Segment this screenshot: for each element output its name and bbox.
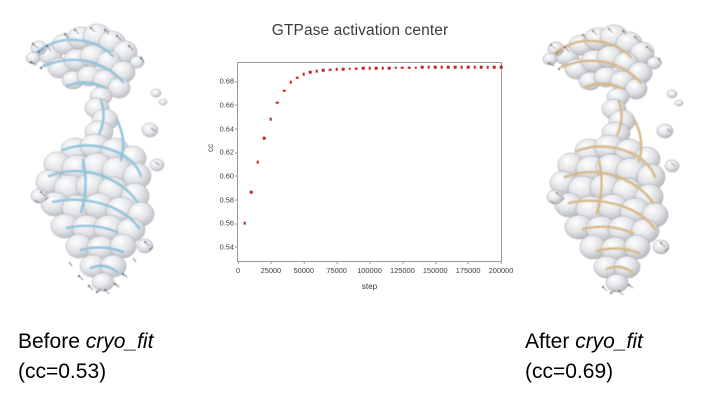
caption-after: After cryo_fit (cc=0.69): [525, 327, 643, 387]
data-point: [243, 222, 246, 225]
data-point: [276, 102, 279, 105]
y-axis-tick: 0.56: [220, 219, 238, 228]
caption-before-cc: (cc=0.53): [18, 357, 153, 387]
data-point: [460, 66, 463, 69]
figure-panel-before: [5, 0, 205, 320]
caption-before-italic: cryo_fit: [86, 330, 154, 353]
data-point: [362, 67, 365, 70]
data-point: [434, 66, 437, 69]
caption-before-prefix: Before: [18, 330, 86, 353]
data-point: [342, 68, 345, 71]
data-point: [493, 66, 496, 69]
x-axis-tick: 100000: [357, 261, 382, 275]
data-point: [302, 73, 305, 76]
y-axis-tick: 0.66: [220, 100, 238, 109]
y-axis-tick: 0.58: [220, 195, 238, 204]
data-point: [388, 67, 391, 70]
data-point: [283, 89, 286, 92]
x-axis-tick: 200000: [489, 261, 514, 275]
data-point: [500, 66, 503, 69]
ribosome-density-map-before: [5, 0, 205, 320]
data-point: [368, 67, 371, 70]
y-axis-tick: 0.62: [220, 148, 238, 157]
data-point: [441, 66, 444, 69]
data-point: [348, 67, 351, 70]
x-axis-label: step: [237, 282, 502, 291]
x-axis-tick: 25000: [261, 261, 282, 275]
data-point: [263, 137, 266, 140]
data-point: [316, 70, 319, 73]
data-point: [454, 66, 457, 69]
data-point: [329, 68, 332, 71]
x-axis-tick: 50000: [293, 261, 314, 275]
molecule-render-after: [515, 0, 715, 320]
data-point: [289, 81, 292, 84]
x-axis-tick: 150000: [423, 261, 448, 275]
scatter-series: [238, 63, 501, 261]
plot-area: 0.540.560.580.600.620.640.660.6802500050…: [237, 62, 502, 262]
x-axis-tick: 125000: [390, 261, 415, 275]
data-point: [473, 66, 476, 69]
data-point: [487, 66, 490, 69]
data-point: [467, 66, 470, 69]
data-point: [381, 67, 384, 70]
data-point: [270, 118, 273, 121]
y-axis-tick: 0.60: [220, 171, 238, 180]
data-point: [256, 161, 259, 164]
data-point: [375, 67, 378, 70]
data-point: [414, 66, 417, 69]
cc-vs-step-chart: GTPase activation center cc 0.540.560.58…: [200, 4, 520, 304]
x-axis-tick: 0: [236, 261, 240, 275]
caption-before: Before cryo_fit (cc=0.53): [18, 327, 153, 387]
data-point: [322, 69, 325, 72]
molecule-render-before: [5, 0, 205, 320]
y-axis-label: cc: [206, 144, 215, 152]
data-point: [335, 68, 338, 71]
data-point: [480, 66, 483, 69]
data-point: [447, 66, 450, 69]
caption-after-cc: (cc=0.69): [525, 357, 643, 387]
caption-after-italic: cryo_fit: [575, 330, 643, 353]
data-point: [401, 66, 404, 69]
data-point: [421, 66, 424, 69]
chart-title: GTPase activation center: [200, 22, 520, 40]
data-point: [408, 66, 411, 69]
data-point: [250, 191, 253, 194]
x-axis-tick: 175000: [456, 261, 481, 275]
x-axis-tick: 75000: [326, 261, 347, 275]
figure-panel-after: [515, 0, 715, 320]
y-axis-tick: 0.54: [220, 242, 238, 251]
data-point: [309, 71, 312, 74]
data-point: [296, 76, 299, 79]
y-axis-tick: 0.64: [220, 124, 238, 133]
y-axis-tick: 0.68: [220, 77, 238, 86]
data-point: [427, 66, 430, 69]
caption-after-prefix: After: [525, 330, 575, 353]
data-point: [395, 67, 398, 70]
ribosome-density-map-after: [515, 0, 715, 320]
data-point: [355, 67, 358, 70]
